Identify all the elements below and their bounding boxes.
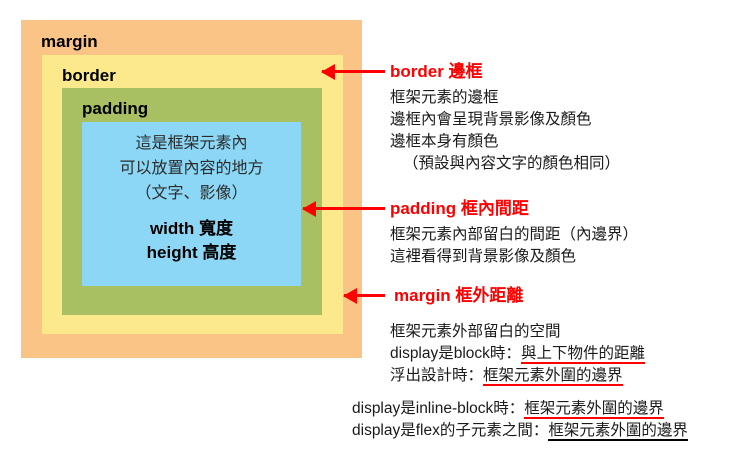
- margin-layer-label: margin: [41, 33, 98, 50]
- content-layer: 這是框架元素內 可以放置內容的地方 （文字、影像） width 寬度 heigh…: [82, 122, 301, 286]
- margin-rule-1-prefix: display是block時：: [390, 345, 521, 362]
- content-text-line-1: 這是框架元素內: [135, 131, 247, 156]
- box-model-diagram: margin border padding 這是框架元素內 可以放置內容的地方 …: [21, 20, 362, 358]
- margin-rule-1-underlined: 與上下物件的距離: [521, 345, 645, 364]
- footnotes-block: display是inline-block時：框架元素外圍的邊界 display是…: [352, 398, 688, 442]
- border-annotation-line-2: 邊框內會呈現背景影像及顏色: [390, 109, 620, 131]
- margin-rule-1: display是block時：與上下物件的距離: [390, 343, 645, 365]
- padding-layer-label: padding: [82, 100, 148, 117]
- footnote-1-prefix: display是inline-block時：: [352, 400, 524, 417]
- margin-rule-2-prefix: 浮出設計時：: [390, 367, 483, 384]
- footnote-1: display是inline-block時：框架元素外圍的邊界: [352, 398, 688, 420]
- margin-annotation-heading: margin 框外距離: [394, 287, 523, 304]
- border-annotation-line-3: 邊框本身有顏色: [390, 131, 620, 153]
- border-annotation-heading: border 邊框: [390, 63, 483, 80]
- padding-annotation-body: 框架元素內部留白的間距（內邊界） 這裡看得到背景影像及顏色: [390, 224, 638, 268]
- padding-annotation-line-2: 這裡看得到背景影像及顏色: [390, 246, 638, 268]
- content-dimension-group: width 寬度 height 高度: [147, 217, 237, 265]
- margin-annotation-body: 框架元素外部留白的空間 display是block時：與上下物件的距離 浮出設計…: [390, 321, 645, 387]
- footnote-2-prefix: display是flex的子元素之間：: [352, 422, 548, 439]
- border-layer-label: border: [62, 67, 116, 84]
- content-width-label: width 寬度: [147, 217, 237, 241]
- footnote-2-underlined: 框架元素外圍的邊界: [548, 422, 688, 441]
- content-text-line-2: 可以放置內容的地方: [119, 156, 263, 181]
- border-layer: border padding 這是框架元素內 可以放置內容的地方 （文字、影像）…: [42, 55, 343, 334]
- padding-callout-arrow: [303, 207, 385, 210]
- padding-annotation-line-1: 框架元素內部留白的間距（內邊界）: [390, 224, 638, 246]
- border-callout-arrow: [322, 70, 385, 73]
- margin-annotation-line-1: 框架元素外部留白的空間: [390, 321, 645, 343]
- margin-rule-2-underlined: 框架元素外圍的邊界: [483, 367, 623, 386]
- content-height-label: height 高度: [147, 241, 237, 265]
- footnote-2: display是flex的子元素之間：框架元素外圍的邊界: [352, 420, 688, 442]
- border-annotation-line-4: （預設與內容文字的顏色相同）: [390, 153, 620, 175]
- margin-rule-2: 浮出設計時：框架元素外圍的邊界: [390, 365, 645, 387]
- padding-layer: padding 這是框架元素內 可以放置內容的地方 （文字、影像） width …: [62, 88, 322, 315]
- border-annotation-line-1: 框架元素的邊框: [390, 87, 620, 109]
- padding-annotation-heading: padding 框內間距: [390, 200, 529, 217]
- margin-callout-arrow: [344, 294, 385, 297]
- border-annotation-body: 框架元素的邊框 邊框內會呈現背景影像及顏色 邊框本身有顏色 （預設與內容文字的顏…: [390, 87, 620, 175]
- content-text-line-3: （文字、影像）: [135, 181, 247, 206]
- footnote-1-underlined: 框架元素外圍的邊界: [524, 400, 664, 419]
